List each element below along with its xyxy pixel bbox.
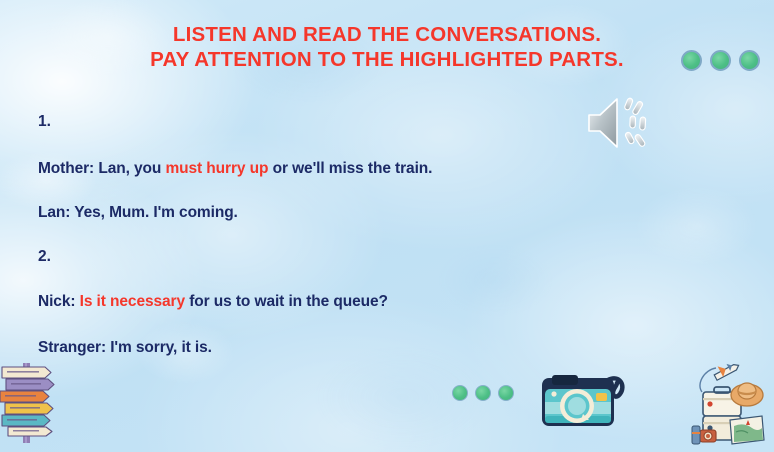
retro-camera-icon bbox=[536, 366, 632, 432]
green-dot-icon bbox=[739, 50, 760, 71]
line-text-before: Yes, Mum. I'm coming. bbox=[70, 204, 237, 221]
highlighted-phrase: must hurry up bbox=[165, 160, 268, 177]
slide-canvas: LISTEN AND READ THE CONVERSATIONS. PAY A… bbox=[0, 0, 774, 452]
dot-group-top-right bbox=[681, 50, 760, 71]
conversation-2-line-2: Stranger: I'm sorry, it is. bbox=[38, 339, 212, 357]
title-line-2: PAY ATTENTION TO THE HIGHLIGHTED PARTS. bbox=[0, 47, 774, 72]
green-dot-icon bbox=[452, 385, 468, 401]
conversation-2-line-1: Nick: Is it necessary for us to wait in … bbox=[38, 293, 388, 311]
line-text-before: Lan, you bbox=[94, 160, 165, 177]
speaker-label-nick: Nick: bbox=[38, 293, 75, 310]
line-text-after: for us to wait in the queue? bbox=[185, 293, 388, 310]
green-dot-icon bbox=[498, 385, 514, 401]
conversation-number-1: 1. bbox=[38, 113, 51, 131]
green-dot-icon bbox=[681, 50, 702, 71]
conversation-1-line-1: Mother: Lan, you must hurry up or we'll … bbox=[38, 160, 432, 178]
travel-luggage-icon bbox=[690, 362, 766, 448]
speaker-icon[interactable] bbox=[585, 94, 657, 152]
slide-title: LISTEN AND READ THE CONVERSATIONS. PAY A… bbox=[0, 22, 774, 72]
speaker-label-mother: Mother: bbox=[38, 160, 94, 177]
speaker-label-lan: Lan: bbox=[38, 204, 70, 221]
line-text-before: I'm sorry, it is. bbox=[106, 339, 212, 356]
conversation-number-2: 2. bbox=[38, 248, 51, 266]
line-text-after: or we'll miss the train. bbox=[268, 160, 432, 177]
green-dot-icon bbox=[475, 385, 491, 401]
title-line-1: LISTEN AND READ THE CONVERSATIONS. bbox=[0, 22, 774, 47]
dot-group-bottom-center bbox=[452, 385, 514, 401]
green-dot-icon bbox=[710, 50, 731, 71]
highlighted-phrase: Is it necessary bbox=[80, 293, 185, 310]
conversation-1-line-2: Lan: Yes, Mum. I'm coming. bbox=[38, 204, 238, 222]
direction-signpost-icon bbox=[0, 345, 58, 445]
